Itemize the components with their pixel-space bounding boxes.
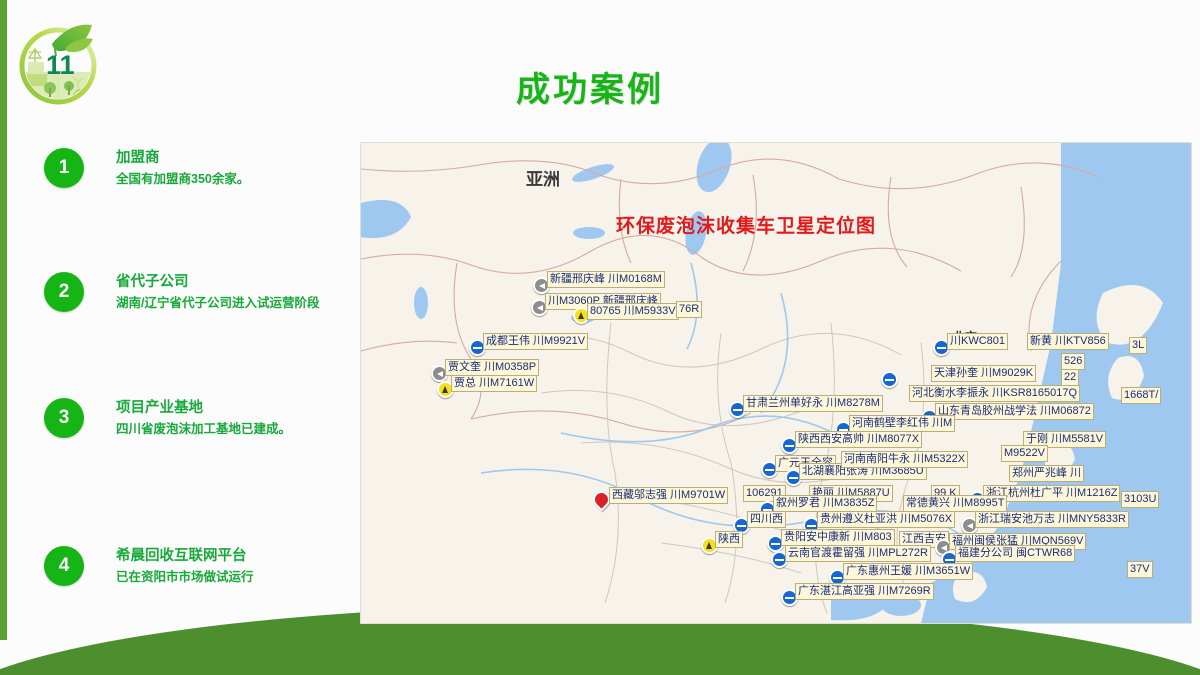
map-marker-label: 新黄 川KTV856	[1027, 333, 1109, 350]
map-marker-label: 天津孙奎 川M9029K	[931, 365, 1036, 382]
sidebar-item-4[interactable]: 4 希晨回收互联网平台 已在资阳市市场做试运行	[44, 546, 344, 608]
map-marker-label: 郑州严兆峰 川	[1009, 465, 1084, 482]
map-marker-label: 76R	[676, 301, 702, 318]
map-pin-blue-icon[interactable]	[881, 371, 898, 388]
map-marker-label: 37V	[1127, 561, 1153, 578]
left-accent-stripe	[0, 0, 7, 640]
map-marker-label: 云南官渡霍留强 川MPL272R	[785, 545, 931, 562]
map-marker-label: 陕西西安高帅 川M8077X	[795, 431, 922, 448]
sidebar-item-1[interactable]: 1 加盟商 全国有加盟商350余家。	[44, 148, 344, 210]
map-marker-label: 22	[1061, 369, 1079, 386]
map-panel[interactable]: 亚洲 环保废泡沫收集车卫星定位图 北京 新疆邢庆峰 川M0168M川M3060P…	[360, 142, 1192, 624]
logo-number: 11	[46, 50, 75, 80]
map-overlay-title: 环保废泡沫收集车卫星定位图	[616, 211, 876, 238]
sidebar-item-4-desc: 已在资阳市市场做试运行	[116, 568, 344, 587]
map-marker-label: 四川西	[747, 511, 786, 528]
band-peak-base	[575, 645, 625, 675]
map-continent-label: 亚洲	[526, 165, 560, 190]
map-marker-label: 贵州遵义杜亚洪 川M5076X	[817, 511, 955, 528]
badge-number-1: 1	[44, 148, 84, 188]
map-marker-label: 526	[1061, 353, 1085, 370]
map-marker-label: 浙江瑞安池万志 川MNY5833R	[975, 511, 1129, 528]
map-marker-label: 广东惠州王媛 川M3651W	[843, 563, 973, 580]
sidebar-item-2[interactable]: 2 省代子公司 湖南/辽宁省代子公司进入试运营阶段	[44, 272, 344, 334]
map-marker-label: 河南南阳牛永 川M5322X	[841, 451, 968, 468]
sidebar-item-1-title: 加盟商	[116, 148, 344, 170]
map-marker-label: M9522V	[1001, 445, 1048, 462]
page-title: 成功案例	[380, 62, 800, 111]
map-marker-label: 河南鹤壁李红伟 川M	[849, 415, 955, 432]
map-marker-label: 1668T/	[1121, 387, 1161, 404]
map-marker-label: 成都王伟 川M9921V	[483, 333, 588, 350]
sidebar-item-3[interactable]: 3 项目产业基地 四川省废泡沫加工基地已建成。	[44, 398, 344, 460]
sidebar-list: 1 加盟商 全国有加盟商350余家。 2 省代子公司 湖南/辽宁省代子公司进入试…	[44, 148, 344, 468]
sidebar-item-2-desc: 湖南/辽宁省代子公司进入试运营阶段	[116, 294, 344, 313]
map-marker-label: 福建分公司 闽CTWR68	[955, 545, 1075, 562]
map-marker-label: 3103U	[1121, 491, 1159, 508]
map-marker-label: 3L	[1129, 337, 1147, 354]
map-marker-label: 贵阳安中康新 川M803	[781, 529, 895, 546]
sidebar-item-4-title: 希晨回收互联网平台	[116, 546, 344, 568]
map-marker-label: 山东青岛胶州战学法 川M06872	[935, 403, 1094, 420]
eco-logo: 11	[12, 14, 108, 110]
map-marker-label: 80765 川M5933V	[587, 303, 679, 320]
badge-number-3: 3	[44, 398, 84, 438]
map-marker-label: 贾文奎 川M0358P	[445, 359, 539, 376]
map-marker-label: 河北衡水李振永 川KSR8165017Q	[909, 385, 1080, 402]
map-marker-label: 西藏邬志强 川M9701W	[609, 487, 728, 504]
sidebar-item-3-desc: 四川省废泡沫加工基地已建成。	[116, 420, 344, 439]
map-marker-label: 新疆邢庆峰 川M0168M	[547, 271, 665, 288]
badge-number-2: 2	[44, 272, 84, 312]
sidebar-item-1-desc: 全国有加盟商350余家。	[116, 170, 344, 189]
map-marker-label: 常德黄兴 川M8995T	[903, 495, 1007, 512]
map-marker-label: 叙州罗君 川M3835Z	[773, 495, 877, 512]
map-marker-label: 甘肃兰州单好永 川M8278M	[743, 395, 883, 412]
eco-logo-graphic: 11	[12, 14, 108, 110]
map-marker-label: 陕西	[715, 531, 743, 548]
map-marker-label: 贾总 川M7161W	[451, 375, 537, 392]
map-marker-label: 川KWC801	[947, 333, 1008, 350]
sidebar-item-3-title: 项目产业基地	[116, 398, 344, 420]
map-marker-label: 广东湛江高亚强 川M7269R	[795, 583, 934, 600]
sidebar-item-2-title: 省代子公司	[116, 272, 344, 294]
badge-number-4: 4	[44, 546, 84, 586]
